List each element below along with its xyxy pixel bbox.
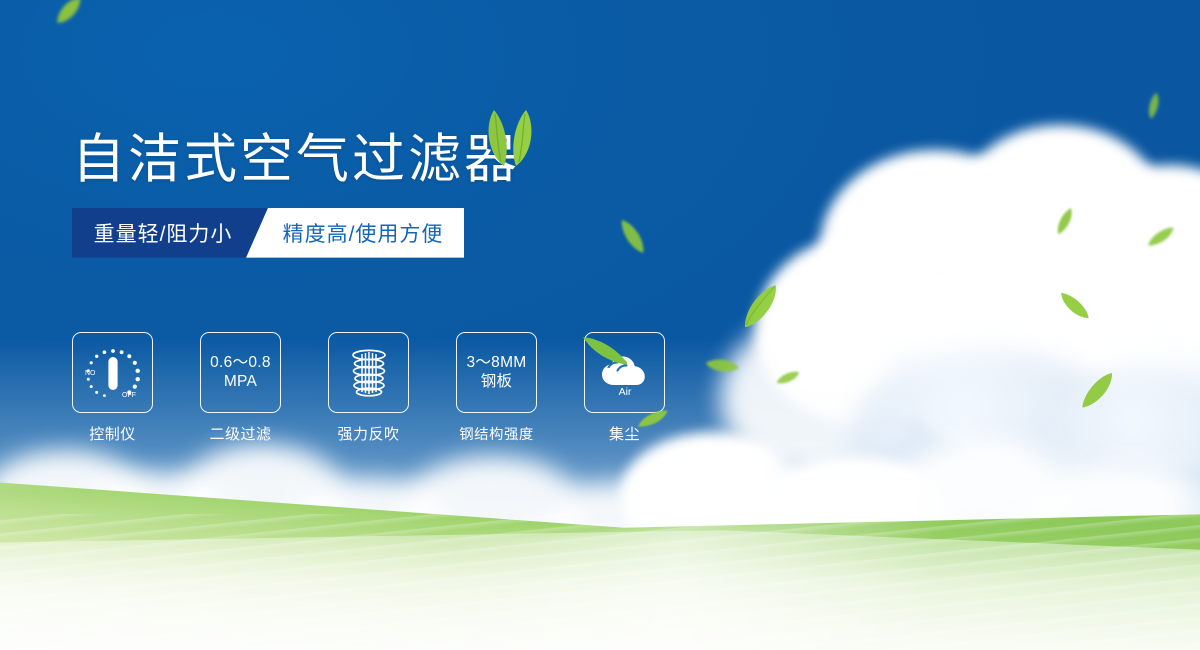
feature-label: 集尘 xyxy=(609,423,640,444)
air-label: Air xyxy=(618,386,631,397)
filter-cartridge-icon xyxy=(340,344,398,402)
gauge-icon: NO OFF xyxy=(82,344,144,402)
page-title: 自洁式空气过滤器 xyxy=(72,132,712,188)
feature-item-two-stage-filter[interactable]: 0.6〜0.8 MPA 二级过滤 xyxy=(200,332,281,444)
feature-label: 钢结构强度 xyxy=(459,423,533,444)
tagline-right: 精度高/使用方便 xyxy=(246,208,464,258)
tagline-badge: 重量轻/阻力小 精度高/使用方便 xyxy=(72,208,464,258)
tagline-left: 重量轻/阻力小 xyxy=(72,208,268,258)
feature-item-steel-structure[interactable]: 3〜8MM 钢板 钢结构强度 xyxy=(456,332,537,444)
promo-banner: 自洁式空气过滤器 重量轻/阻力小 精度高/使用方便 xyxy=(0,0,1200,650)
cloud-air-icon: Air xyxy=(596,351,654,397)
feature-list: NO OFF 控制仪 0.6〜0.8 MPA 二级过滤 xyxy=(72,332,665,444)
feature-icon-box: NO OFF xyxy=(72,332,153,413)
feature-label: 二级过滤 xyxy=(209,423,271,444)
feature-icon-box xyxy=(328,332,409,413)
grass-field xyxy=(0,422,1200,650)
thickness-material: 钢板 xyxy=(466,373,526,392)
feature-icon-box: 3〜8MM 钢板 xyxy=(456,332,537,413)
feature-item-control-instrument[interactable]: NO OFF 控制仪 xyxy=(72,332,153,444)
headline-block: 自洁式空气过滤器 重量轻/阻力小 精度高/使用方便 xyxy=(72,132,712,258)
gauge-on-label: NO xyxy=(85,370,96,377)
pressure-range: 0.6〜0.8 xyxy=(210,354,271,371)
pressure-unit: MPA xyxy=(210,373,271,392)
feature-label: 控制仪 xyxy=(89,423,136,444)
thickness-range: 3〜8MM xyxy=(466,354,526,371)
thickness-text-icon: 3〜8MM 钢板 xyxy=(466,354,526,392)
feature-item-strong-backblow[interactable]: 强力反吹 xyxy=(328,332,409,444)
gauge-off-label: OFF xyxy=(122,392,136,399)
feature-icon-box: Air xyxy=(584,332,665,413)
feature-label: 强力反吹 xyxy=(337,423,399,444)
pressure-text-icon: 0.6〜0.8 MPA xyxy=(210,354,271,392)
feature-icon-box: 0.6〜0.8 MPA xyxy=(200,332,281,413)
